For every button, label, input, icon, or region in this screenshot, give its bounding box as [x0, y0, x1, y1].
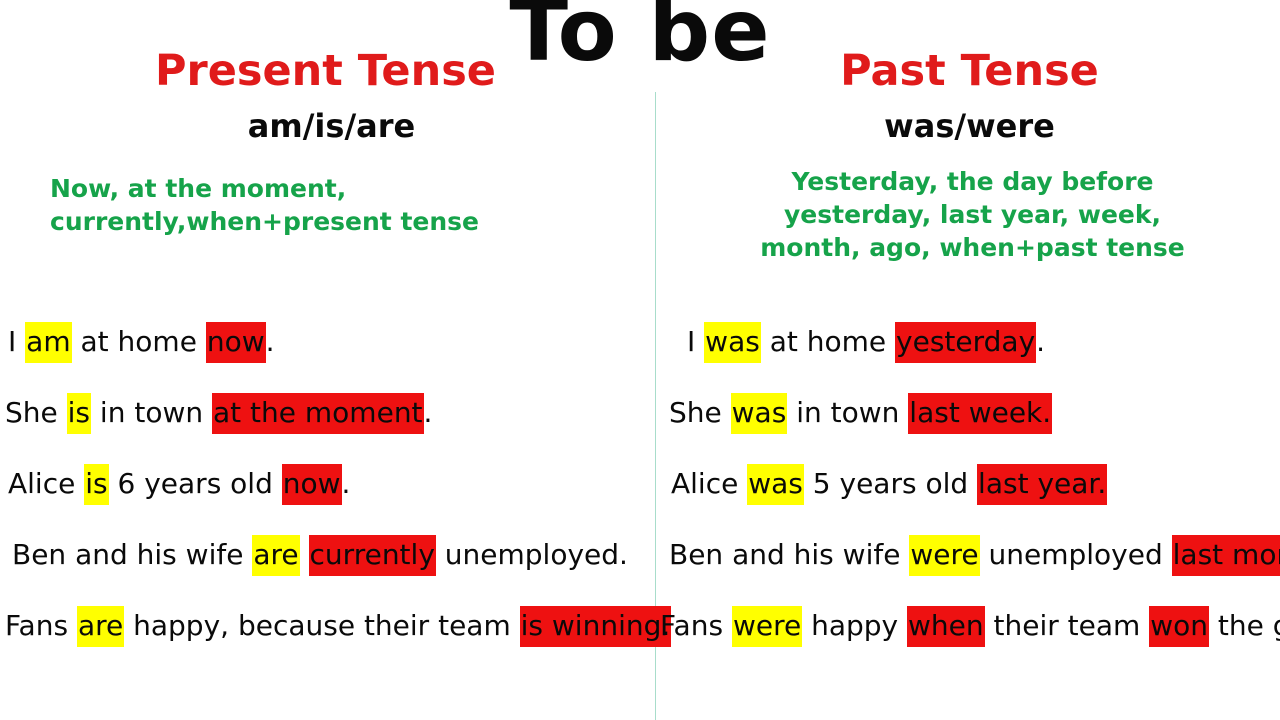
- highlight-verb: are: [77, 606, 124, 647]
- time-marker-line: Now, at the moment,: [50, 172, 590, 205]
- past-example-sentences: I was at home yesterday.She was in town …: [655, 320, 1280, 675]
- highlight-time-marker: at the moment: [212, 393, 424, 434]
- sentence-text: the game.: [1209, 609, 1280, 642]
- sentence-text: She: [669, 396, 731, 429]
- time-marker-line: month, ago, when+past tense: [675, 231, 1270, 264]
- time-marker-line: yesterday, last year, week,: [675, 198, 1270, 231]
- sentence-text: at home: [761, 325, 895, 358]
- past-time-markers: Yesterday, the day before yesterday, las…: [675, 165, 1270, 264]
- highlight-verb: was: [704, 322, 761, 363]
- sentence-text: their team: [985, 609, 1150, 642]
- highlight-verb: am: [25, 322, 71, 363]
- sentence-text: .: [266, 325, 275, 358]
- sentence-text: 6 years old: [109, 467, 282, 500]
- present-tense-heading: Present Tense: [0, 50, 653, 93]
- sentence-text: .: [342, 467, 351, 500]
- past-tense-column: Past Tense was/were Yesterday, the day b…: [655, 0, 1280, 720]
- highlight-verb: is: [84, 464, 108, 505]
- highlight-verb: were: [732, 606, 802, 647]
- past-tense-subheading: was/were: [657, 110, 1280, 142]
- highlight-time-marker: won: [1149, 606, 1209, 647]
- highlight-time-marker: now: [282, 464, 342, 505]
- sentence-text: in town: [91, 396, 212, 429]
- past-tense-heading: Past Tense: [657, 50, 1280, 93]
- sentence-text: unemployed.: [436, 538, 628, 571]
- sentence-text: Ben and his wife: [669, 538, 909, 571]
- sentence-text: Alice: [671, 467, 747, 500]
- sentence-text: I: [687, 325, 704, 358]
- sentence-text: in town: [787, 396, 908, 429]
- sentence-text: She: [5, 396, 67, 429]
- present-tense-column: Present Tense am/is/are Now, at the mome…: [0, 0, 655, 720]
- example-sentence: Ben and his wife are currently unemploye…: [0, 533, 655, 604]
- present-example-sentences: I am at home now.She is in town at the m…: [0, 320, 655, 675]
- highlight-verb: is: [67, 393, 91, 434]
- highlight-verb: are: [252, 535, 299, 576]
- sentence-text: Ben and his wife: [12, 538, 252, 571]
- sentence-text: Fans: [660, 609, 732, 642]
- present-tense-subheading: am/is/are: [4, 110, 659, 142]
- highlight-time-marker: last year.: [977, 464, 1107, 505]
- present-time-markers: Now, at the moment, currently,when+prese…: [50, 172, 590, 238]
- example-sentence: I am at home now.: [0, 320, 655, 391]
- time-marker-line: Yesterday, the day before: [675, 165, 1270, 198]
- highlight-time-marker: when: [907, 606, 985, 647]
- sentence-text: .: [424, 396, 433, 429]
- sentence-text: Fans: [5, 609, 77, 642]
- sentence-text: happy: [802, 609, 907, 642]
- example-sentence: Ben and his wife were unemployed last mo…: [655, 533, 1280, 604]
- example-sentence: Alice was 5 years old last year.: [655, 462, 1280, 533]
- slide-canvas: To be Present Tense am/is/are Now, at th…: [0, 0, 1280, 720]
- sentence-text: .: [1036, 325, 1045, 358]
- sentence-text: at home: [72, 325, 206, 358]
- time-marker-line: currently,when+present tense: [50, 205, 590, 238]
- example-sentence: She was in town last week.: [655, 391, 1280, 462]
- highlight-time-marker: yesterday: [895, 322, 1036, 363]
- example-sentence: I was at home yesterday.: [655, 320, 1280, 391]
- highlight-time-marker: is winning.: [520, 606, 672, 647]
- highlight-time-marker: now: [206, 322, 266, 363]
- sentence-text: 5 years old: [804, 467, 977, 500]
- example-sentence: She is in town at the moment.: [0, 391, 655, 462]
- highlight-time-marker: last week.: [908, 393, 1052, 434]
- highlight-verb: was: [731, 393, 788, 434]
- example-sentence: Alice is 6 years old now.: [0, 462, 655, 533]
- sentence-text: [300, 538, 309, 571]
- sentence-text: Alice: [8, 467, 84, 500]
- example-sentence: Fans are happy, because their team is wi…: [0, 604, 655, 675]
- sentence-text: unemployed: [980, 538, 1172, 571]
- highlight-time-marker: currently: [309, 535, 436, 576]
- highlight-time-marker: last month: [1172, 535, 1280, 576]
- sentence-text: happy, because their team: [124, 609, 519, 642]
- example-sentence: Fans were happy when their team won the …: [655, 604, 1280, 675]
- highlight-verb: was: [747, 464, 804, 505]
- sentence-text: I: [8, 325, 25, 358]
- highlight-verb: were: [909, 535, 979, 576]
